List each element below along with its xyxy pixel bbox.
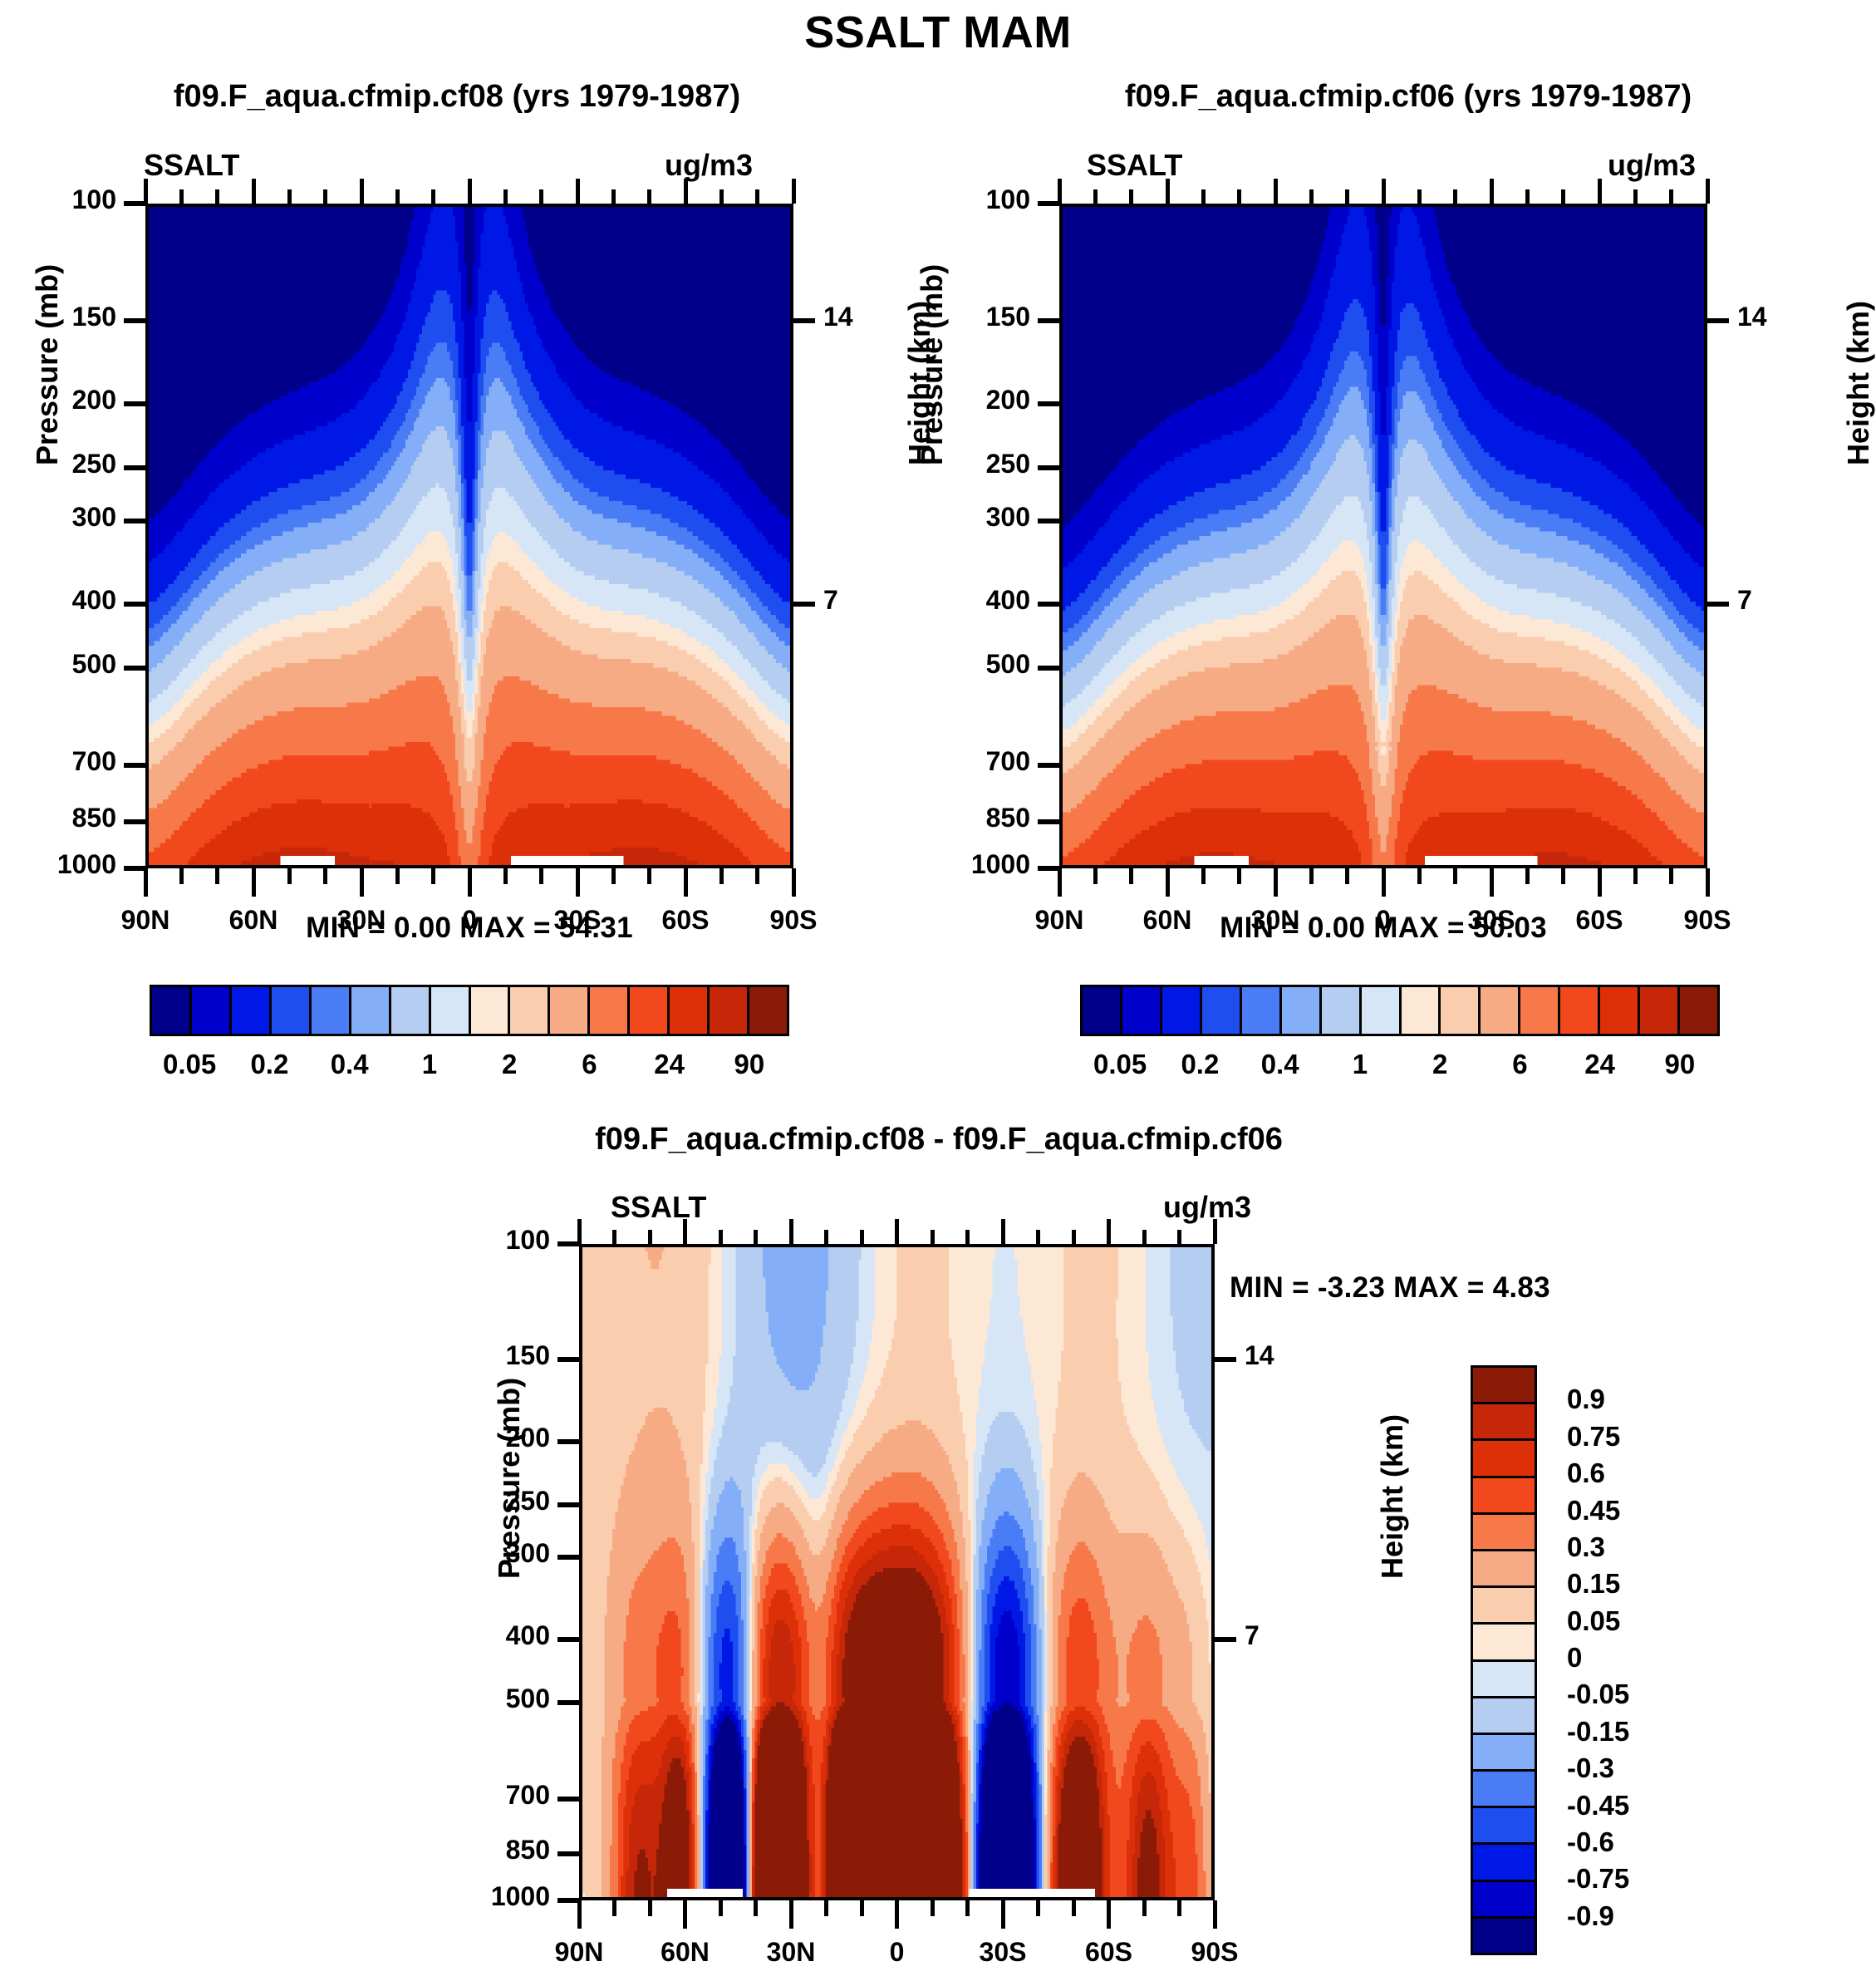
x-tick-label: 0 <box>1321 905 1446 936</box>
colorbar-tick-label: 0.05 <box>1567 1605 1733 1637</box>
colorbar-segment <box>272 987 312 1034</box>
colorbar-segment <box>1560 987 1600 1034</box>
axis-tick <box>557 1797 579 1802</box>
colorbar-segment <box>1402 987 1441 1034</box>
colorbar-segment <box>1473 1845 1535 1881</box>
axis-tick <box>792 868 796 897</box>
y-tick-label: 400 <box>0 585 116 616</box>
y-tick-label: 200 <box>0 385 116 415</box>
panel-var-label-cf06: SSALT <box>1087 148 1182 183</box>
colorbar-cf08 <box>150 985 789 1036</box>
axis-tick <box>1345 189 1349 204</box>
panel-units-label-cf06: ug/m3 <box>1608 148 1696 183</box>
y2-tick-label: 14 <box>1737 302 1804 332</box>
colorbar-segment <box>1122 987 1162 1034</box>
axis-tick <box>754 1900 758 1916</box>
axis-tick <box>1038 519 1059 524</box>
panel-var-label-cf08: SSALT <box>144 148 239 183</box>
y2-axis-label-diff: Height (km) <box>1375 1414 1410 1579</box>
colorbar-segment <box>710 987 749 1034</box>
colorbar-segment <box>1473 1735 1535 1772</box>
y2-tick-label: 7 <box>1737 585 1804 616</box>
axis-tick <box>360 179 364 204</box>
axis-tick <box>124 819 145 824</box>
axis-tick <box>395 189 400 204</box>
axis-tick <box>323 189 327 204</box>
axis-tick <box>1058 868 1062 897</box>
colorbar-segment <box>1202 987 1242 1034</box>
colorbar-segment <box>1473 1772 1535 1808</box>
axis-tick <box>648 1230 652 1244</box>
axis-tick <box>287 868 292 884</box>
axis-tick <box>1213 1219 1217 1244</box>
axis-tick <box>1274 868 1278 897</box>
axis-tick <box>557 1637 579 1642</box>
colorbar-segment <box>1242 987 1282 1034</box>
colorbar-segment <box>391 987 431 1034</box>
colorbar-segment <box>550 987 590 1034</box>
y-axis-label-cf06: Pressure (mb) <box>915 264 950 465</box>
axis-tick <box>124 866 145 871</box>
axis-tick <box>1561 189 1565 204</box>
colorbar-segment <box>510 987 550 1034</box>
panel-var-label-diff: SSALT <box>611 1190 706 1225</box>
x-tick-label: 30S <box>1429 905 1554 936</box>
axis-tick <box>1058 179 1062 204</box>
colorbar-tick-label: -0.9 <box>1567 1900 1733 1932</box>
colorbar-segment <box>431 987 471 1034</box>
axis-tick <box>144 179 148 204</box>
colorbar-segment <box>1473 1404 1535 1441</box>
axis-tick <box>1038 763 1059 768</box>
contour-plot-cf08 <box>145 204 793 868</box>
axis-tick <box>1166 868 1170 897</box>
colorbar-segment <box>630 987 670 1034</box>
axis-tick <box>612 1230 616 1244</box>
axis-tick <box>468 868 472 897</box>
y2-axis-label-cf06: Height (km) <box>1841 301 1876 465</box>
y-tick-label: 100 <box>914 184 1030 215</box>
colorbar-segment <box>1473 1441 1535 1477</box>
y-tick-label: 250 <box>0 449 116 479</box>
colorbar-segment <box>1640 987 1680 1034</box>
axis-tick <box>965 1230 970 1244</box>
axis-tick <box>719 1230 723 1244</box>
axis-tick <box>1036 1900 1040 1916</box>
axis-tick <box>1345 868 1349 884</box>
axis-tick <box>557 1898 579 1903</box>
axis-tick <box>684 868 688 897</box>
axis-tick <box>1038 866 1059 871</box>
x-tick-label: 60S <box>1537 905 1662 936</box>
y-tick-label: 200 <box>914 385 1030 415</box>
colorbar-segment <box>1481 987 1520 1034</box>
x-tick-label: 90N <box>997 905 1122 936</box>
y-tick-label: 700 <box>914 746 1030 777</box>
axis-tick <box>1142 1900 1147 1916</box>
axis-tick <box>1525 189 1530 204</box>
axis-tick <box>557 1502 579 1507</box>
axis-tick <box>683 1219 687 1244</box>
y-tick-label: 300 <box>0 502 116 533</box>
y-tick-label: 500 <box>434 1684 550 1714</box>
colorbar-tick-label: -0.05 <box>1567 1679 1733 1710</box>
axis-tick <box>1309 868 1314 884</box>
axis-tick <box>612 1900 616 1916</box>
axis-tick <box>1107 1219 1111 1244</box>
axis-tick <box>789 1219 793 1244</box>
axis-tick <box>860 1230 864 1244</box>
axis-tick <box>1001 1900 1005 1929</box>
axis-tick <box>824 1230 828 1244</box>
colorbar-segment <box>1162 987 1202 1034</box>
y-tick-label: 500 <box>0 649 116 680</box>
axis-tick <box>576 868 580 897</box>
axis-tick <box>252 179 256 204</box>
axis-tick <box>1036 1230 1040 1244</box>
axis-tick <box>1237 189 1241 204</box>
axis-tick <box>1669 189 1673 204</box>
y-tick-label: 850 <box>434 1835 550 1865</box>
y-tick-label: 100 <box>0 184 116 215</box>
axis-tick <box>1201 868 1206 884</box>
y-tick-label: 150 <box>0 302 116 332</box>
axis-tick <box>124 201 145 206</box>
axis-tick <box>1706 179 1710 204</box>
colorbar-tick-label: -0.3 <box>1567 1752 1733 1784</box>
axis-tick <box>611 868 616 884</box>
colorbar-segment <box>1322 987 1362 1034</box>
axis-tick <box>1129 868 1133 884</box>
colorbar-tick-label: 0.15 <box>1567 1568 1733 1600</box>
x-tick-label: 90N <box>83 905 208 936</box>
axis-tick <box>557 1241 579 1246</box>
x-tick-label: 60N <box>191 905 316 936</box>
axis-tick <box>323 868 327 884</box>
colorbar-segment <box>1083 987 1122 1034</box>
x-tick-label: 90S <box>1152 1937 1277 1968</box>
axis-tick <box>1525 868 1530 884</box>
colorbar-cf06 <box>1080 985 1720 1036</box>
colorbar-tick-label: -0.15 <box>1567 1716 1733 1748</box>
y-tick-label: 300 <box>434 1538 550 1569</box>
y-tick-label: 850 <box>0 803 116 833</box>
axis-tick <box>124 519 145 524</box>
axis-tick <box>215 868 219 884</box>
x-tick-label: 90S <box>1645 905 1770 936</box>
colorbar-segment <box>1473 1478 1535 1515</box>
colorbar-segment <box>152 987 192 1034</box>
axis-tick <box>1215 1637 1236 1642</box>
axis-tick <box>1215 1357 1236 1362</box>
colorbar-segment <box>1473 1625 1535 1661</box>
colorbar-tick-label: -0.45 <box>1567 1790 1733 1821</box>
axis-tick <box>557 1439 579 1444</box>
colorbar-tick-label: 0.45 <box>1567 1495 1733 1526</box>
y-tick-label: 250 <box>434 1486 550 1516</box>
x-tick-label: 30N <box>299 905 424 936</box>
x-tick-label: 90S <box>731 905 856 936</box>
axis-tick <box>1453 868 1457 884</box>
axis-tick <box>1142 1230 1147 1244</box>
y-tick-label: 700 <box>0 746 116 777</box>
axis-tick <box>611 189 616 204</box>
axis-tick <box>1038 666 1059 671</box>
panel-title-cf06: f09.F_aqua.cfmip.cf06 (yrs 1979-1987) <box>985 79 1832 115</box>
axis-tick <box>755 868 759 884</box>
axis-tick <box>1490 179 1494 204</box>
axis-tick <box>1001 1219 1005 1244</box>
axis-tick <box>789 1900 793 1929</box>
axis-tick <box>124 318 145 323</box>
axis-tick <box>1093 189 1098 204</box>
axis-tick <box>503 189 508 204</box>
colorbar-segment <box>192 987 232 1034</box>
axis-tick <box>539 189 543 204</box>
axis-tick <box>1382 179 1386 204</box>
axis-tick <box>124 465 145 470</box>
colorbar-tick-label: 0.9 <box>1567 1384 1733 1415</box>
axis-tick <box>431 868 435 884</box>
axis-tick <box>792 179 796 204</box>
axis-tick <box>719 189 724 204</box>
axis-tick <box>557 1700 579 1705</box>
axis-tick <box>215 189 219 204</box>
axis-tick <box>395 868 400 884</box>
colorbar-segment <box>749 987 787 1034</box>
axis-tick <box>144 868 148 897</box>
panel-title-cf08: f09.F_aqua.cfmip.cf08 (yrs 1979-1987) <box>33 79 881 115</box>
y-axis-label-cf08: Pressure (mb) <box>30 264 65 465</box>
axis-tick <box>360 868 364 897</box>
colorbar-segment <box>1473 1588 1535 1625</box>
axis-tick <box>1093 868 1098 884</box>
axis-tick <box>719 1900 723 1916</box>
axis-tick <box>468 179 472 204</box>
x-tick-label: 30S <box>515 905 640 936</box>
axis-tick <box>576 179 580 204</box>
y-tick-label: 150 <box>914 302 1030 332</box>
contour-plot-diff <box>579 1244 1215 1900</box>
colorbar-segment <box>1473 1919 1535 1953</box>
axis-tick <box>1707 602 1729 607</box>
colorbar-segment <box>1473 1808 1535 1845</box>
axis-tick <box>1201 189 1206 204</box>
axis-tick <box>1633 189 1638 204</box>
colorbar-segment <box>1600 987 1640 1034</box>
axis-tick <box>1166 179 1170 204</box>
y-tick-label: 250 <box>914 449 1030 479</box>
y-tick-label: 1000 <box>914 849 1030 880</box>
x-tick-label: 30N <box>1213 905 1338 936</box>
colorbar-tick-label: 90 <box>1622 1049 1738 1080</box>
colorbar-tick-label: 0.6 <box>1567 1457 1733 1489</box>
y2-tick-label: 7 <box>1245 1620 1311 1651</box>
axis-tick <box>1213 1900 1217 1929</box>
axis-tick <box>1707 318 1729 323</box>
axis-tick <box>1072 1900 1076 1916</box>
page-title: SSALT MAM <box>0 7 1876 58</box>
axis-tick <box>647 189 651 204</box>
axis-tick <box>683 1900 687 1929</box>
colorbar-tick-label: 0 <box>1567 1642 1733 1674</box>
axis-tick <box>648 1900 652 1916</box>
axis-tick <box>1633 868 1638 884</box>
colorbar-segment <box>232 987 272 1034</box>
axis-tick <box>124 666 145 671</box>
y-tick-label: 700 <box>434 1780 550 1811</box>
y2-tick-label: 14 <box>823 302 890 332</box>
colorbar-segment <box>1362 987 1402 1034</box>
y-tick-label: 100 <box>434 1225 550 1256</box>
colorbar-tick-label: 0.75 <box>1567 1421 1733 1453</box>
colorbar-segment <box>1441 987 1481 1034</box>
axis-tick <box>1309 189 1314 204</box>
colorbar-tick-label: 0.3 <box>1567 1531 1733 1563</box>
axis-tick <box>1038 819 1059 824</box>
colorbar-segment <box>1473 1882 1535 1919</box>
axis-tick <box>1038 201 1059 206</box>
colorbar-tick-label: -0.6 <box>1567 1826 1733 1858</box>
y-tick-label: 500 <box>914 649 1030 680</box>
axis-tick <box>1237 868 1241 884</box>
y2-tick-label: 7 <box>823 585 890 616</box>
y2-tick-label: 14 <box>1245 1340 1311 1371</box>
axis-tick <box>719 868 724 884</box>
axis-tick <box>287 189 292 204</box>
colorbar-segment <box>1282 987 1322 1034</box>
y-tick-label: 300 <box>914 502 1030 533</box>
axis-tick <box>1072 1230 1076 1244</box>
axis-tick <box>557 1851 579 1856</box>
axis-tick <box>124 602 145 607</box>
colorbar-segment <box>1520 987 1560 1034</box>
y-tick-label: 200 <box>434 1423 550 1453</box>
y-tick-label: 150 <box>434 1340 550 1371</box>
axis-tick <box>124 401 145 406</box>
colorbar-segment <box>590 987 630 1034</box>
axis-tick <box>860 1900 864 1916</box>
colorbar-segment <box>1473 1662 1535 1698</box>
colorbar-segment <box>1680 987 1717 1034</box>
axis-tick <box>431 189 435 204</box>
axis-tick <box>124 763 145 768</box>
x-tick-label: 60S <box>623 905 748 936</box>
axis-tick <box>1038 401 1059 406</box>
axis-tick <box>1417 868 1422 884</box>
axis-tick <box>1274 179 1278 204</box>
axis-tick <box>1706 868 1710 897</box>
colorbar-tick-label: -0.75 <box>1567 1863 1733 1895</box>
axis-tick <box>1038 602 1059 607</box>
axis-tick <box>1598 868 1602 897</box>
colorbar-segment <box>1473 1368 1535 1404</box>
minmax-diff: MIN = -3.23 MAX = 4.83 <box>1230 1271 1795 1305</box>
colorbar-diff <box>1471 1365 1537 1955</box>
axis-tick <box>539 868 543 884</box>
axis-tick <box>577 1900 582 1929</box>
y-tick-label: 400 <box>914 585 1030 616</box>
axis-tick <box>179 189 184 204</box>
colorbar-segment <box>1473 1551 1535 1588</box>
axis-tick <box>1382 868 1386 897</box>
colorbar-segment <box>1473 1515 1535 1551</box>
y-tick-label: 850 <box>914 803 1030 833</box>
y-tick-label: 1000 <box>0 849 116 880</box>
axis-tick <box>793 318 815 323</box>
colorbar-segment <box>351 987 391 1034</box>
axis-tick <box>1177 1900 1181 1916</box>
axis-tick <box>252 868 256 897</box>
axis-tick <box>754 1230 758 1244</box>
y-tick-label: 1000 <box>434 1881 550 1912</box>
axis-tick <box>965 1900 970 1916</box>
axis-tick <box>824 1900 828 1916</box>
axis-tick <box>577 1219 582 1244</box>
axis-tick <box>895 1900 899 1929</box>
axis-tick <box>557 1555 579 1560</box>
axis-tick <box>503 868 508 884</box>
axis-tick <box>1129 189 1133 204</box>
axis-tick <box>1561 868 1565 884</box>
axis-tick <box>1669 868 1673 884</box>
contour-plot-cf06 <box>1059 204 1707 868</box>
colorbar-segment <box>1473 1698 1535 1735</box>
axis-tick <box>647 868 651 884</box>
axis-tick <box>1038 318 1059 323</box>
axis-tick <box>755 189 759 204</box>
axis-tick <box>931 1900 935 1916</box>
axis-tick <box>684 179 688 204</box>
axis-tick <box>895 1219 899 1244</box>
panel-title-diff: f09.F_aqua.cfmip.cf08 - f09.F_aqua.cfmip… <box>461 1122 1417 1158</box>
axis-tick <box>1453 189 1457 204</box>
panel-units-label-diff: ug/m3 <box>1163 1190 1251 1225</box>
axis-tick <box>1598 179 1602 204</box>
y-tick-label: 400 <box>434 1620 550 1651</box>
axis-tick <box>557 1357 579 1362</box>
axis-tick <box>1107 1900 1111 1929</box>
axis-tick <box>931 1230 935 1244</box>
axis-tick <box>793 602 815 607</box>
colorbar-segment <box>312 987 351 1034</box>
x-tick-label: 60N <box>1105 905 1230 936</box>
axis-tick <box>1038 465 1059 470</box>
colorbar-segment <box>670 987 710 1034</box>
axis-tick <box>179 868 184 884</box>
x-tick-label: 0 <box>407 905 532 936</box>
axis-tick <box>1417 189 1422 204</box>
axis-tick <box>1490 868 1494 897</box>
panel-units-label-cf08: ug/m3 <box>665 148 753 183</box>
axis-tick <box>1177 1230 1181 1244</box>
colorbar-segment <box>471 987 511 1034</box>
colorbar-tick-label: 90 <box>691 1049 808 1080</box>
